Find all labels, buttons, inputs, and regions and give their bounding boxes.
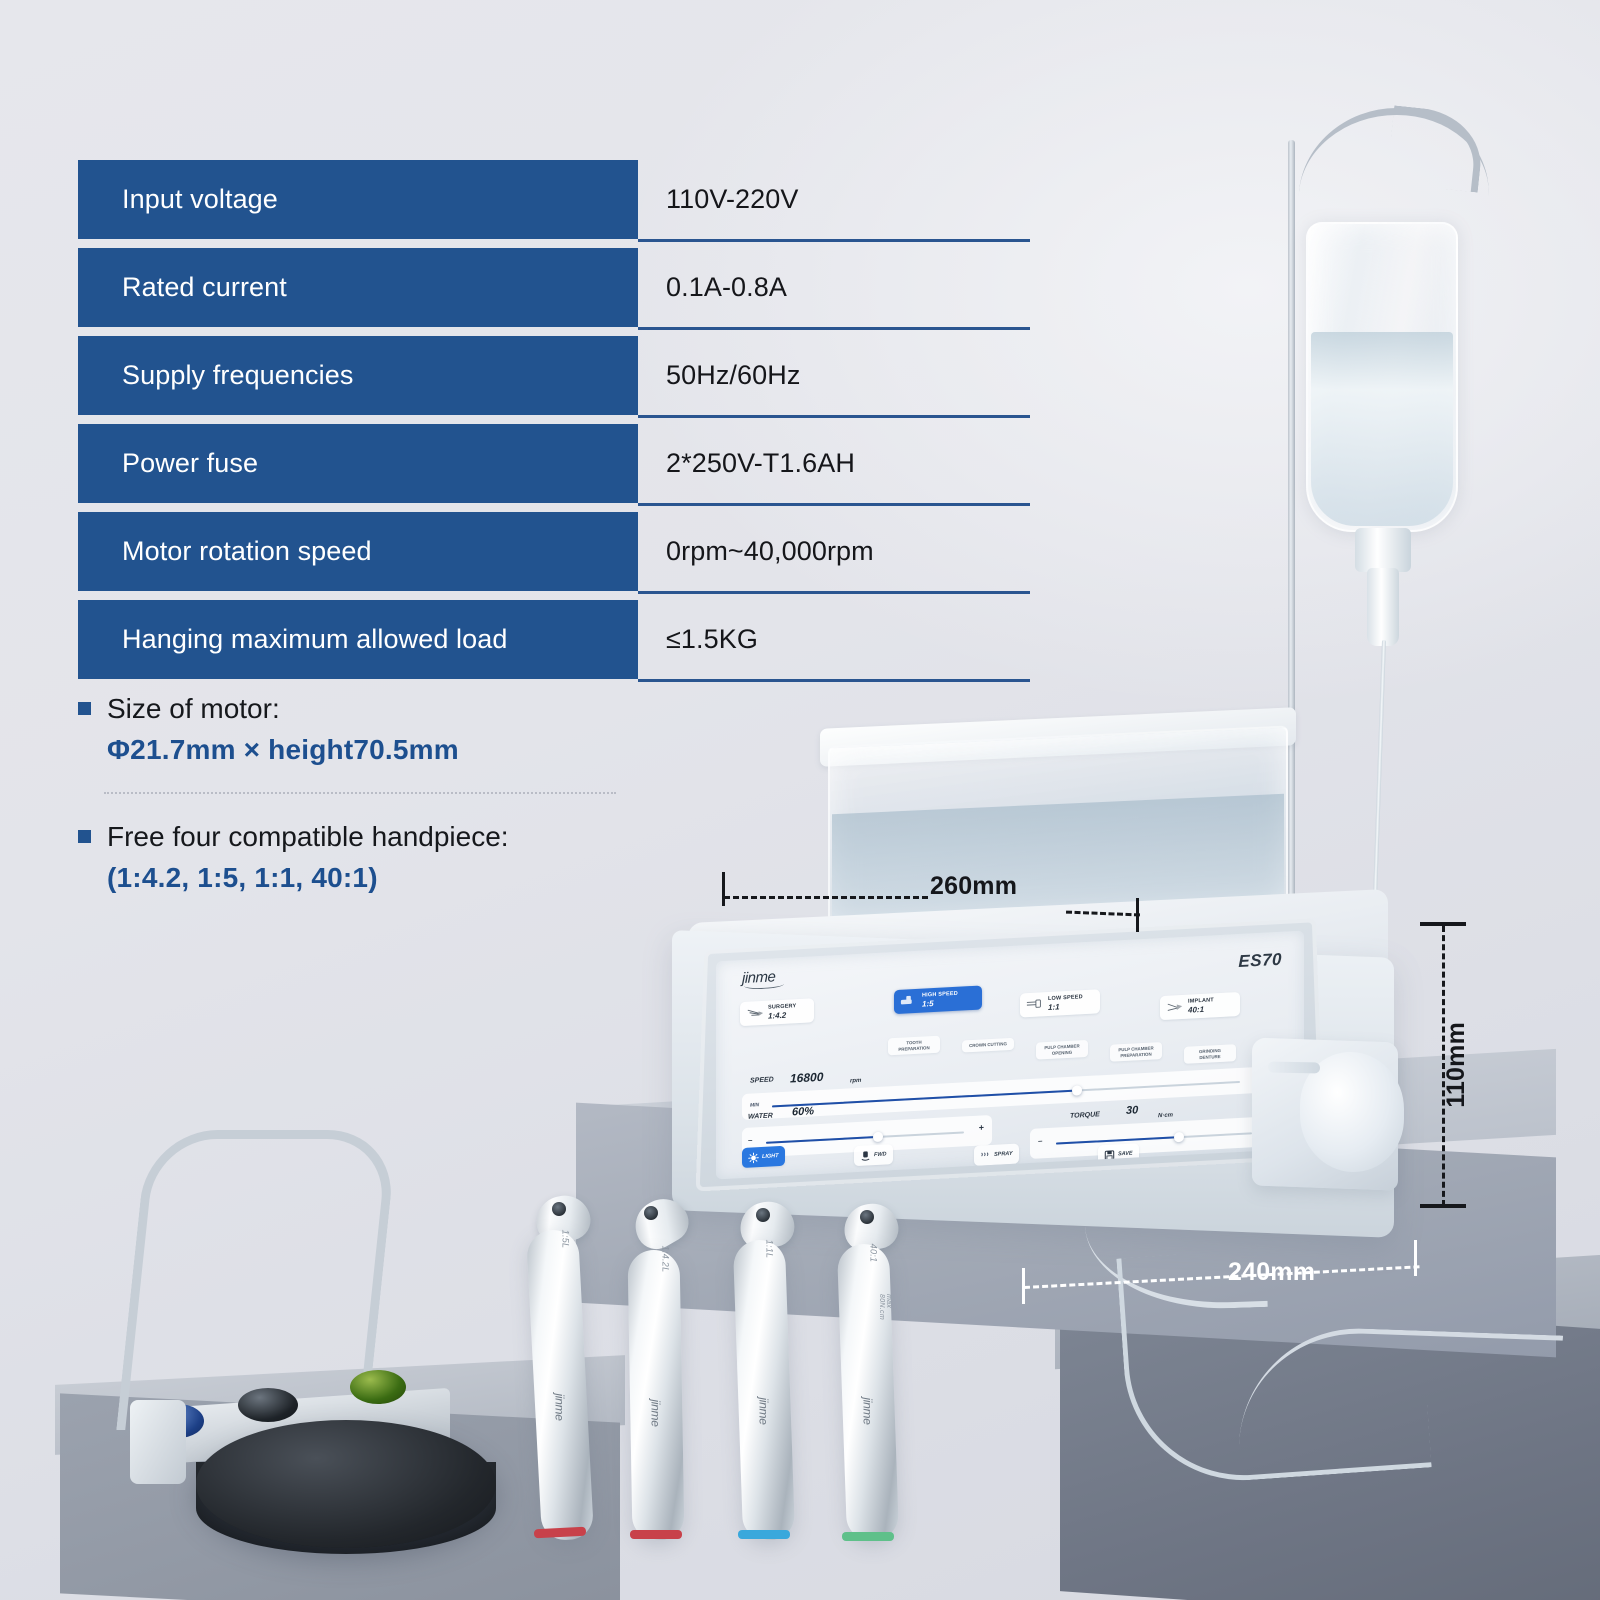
- peristaltic-pump-housing: [1252, 1037, 1398, 1190]
- spec-label: Hanging maximum allowed load: [78, 600, 638, 679]
- handpiece-bur-chuck: [756, 1208, 770, 1222]
- mode-chip-high-speed[interactable]: HIGH SPEED 1:5: [894, 985, 982, 1013]
- spray-icon: [980, 1149, 991, 1161]
- bullet-divider: [104, 792, 616, 794]
- iv-tube: [1362, 640, 1386, 1200]
- save-button-label: SAVE: [1118, 1151, 1133, 1158]
- light-bulb-icon: [748, 1152, 759, 1164]
- handpiece-brand-logo: jinme: [649, 1399, 663, 1426]
- foot-pedal-handle: [116, 1130, 398, 1430]
- foot-pedal-green-button[interactable]: [350, 1370, 406, 1404]
- device-model-badge: ES70: [1238, 950, 1282, 972]
- handpiece-body: [526, 1229, 594, 1541]
- dim-240-tick-right: [1414, 1240, 1417, 1276]
- spray-button-label: SPRAY: [994, 1151, 1013, 1158]
- handpiece-color-ring: [630, 1530, 682, 1539]
- torque-minus-button[interactable]: –: [1038, 1136, 1042, 1145]
- speed-unit: rpm: [850, 1078, 861, 1085]
- forward-rotation-icon: [860, 1150, 871, 1162]
- light-button-label: LIGHT: [762, 1153, 779, 1160]
- action-button-row: LIGHT FWD: [742, 1118, 1280, 1170]
- torque-slider-fill: [1056, 1136, 1178, 1144]
- table-row: Motor rotation speed 0rpm~40,000rpm: [78, 512, 1030, 591]
- device-touchscreen[interactable]: jinme ES70 SURGERY 1:4.2: [716, 931, 1304, 1180]
- mode-name: IMPLANT: [1188, 997, 1214, 1005]
- water-control-row[interactable]: WATER 60% – +: [742, 1115, 992, 1158]
- pedestal-lower-top: [1055, 1255, 1600, 1369]
- high-speed-handpiece-icon: [900, 994, 918, 1009]
- water-tank-lid: [820, 707, 1296, 767]
- iv-pole-hook-arm: [1386, 105, 1486, 192]
- irrigation-tube-run-secondary: [1237, 1324, 1563, 1515]
- speed-max-label: MAX: [1261, 1079, 1272, 1086]
- handpiece-bur-chuck: [644, 1206, 658, 1220]
- table-row: Input voltage 110V-220V: [78, 160, 1030, 239]
- handpiece-torque-mark: max 80N.cm: [878, 1294, 892, 1320]
- dim-240-tick-left: [1022, 1268, 1025, 1304]
- water-slider-track[interactable]: [766, 1131, 964, 1143]
- spec-value: 0rpm~40,000rpm: [638, 536, 874, 567]
- mode-selector-row: SURGERY 1:4.2 HIGH SPEED 1:5: [738, 970, 1284, 1045]
- handpiece-color-ring: [842, 1532, 894, 1541]
- spec-value: ≤1.5KG: [638, 624, 758, 655]
- pedestal-main-top: [576, 1049, 1556, 1193]
- spray-button[interactable]: SPRAY: [974, 1144, 1019, 1166]
- speed-value: 16800: [790, 1070, 823, 1086]
- pedestal-left-top: [55, 1355, 625, 1455]
- spec-label: Power fuse: [78, 424, 638, 503]
- light-button[interactable]: LIGHT: [742, 1146, 785, 1168]
- handpiece-ratio-mark: 1:1L: [764, 1240, 774, 1259]
- list-item: Free four compatible handpiece: (1:4.2, …: [78, 818, 698, 894]
- console-front-panel: [696, 918, 1325, 1191]
- square-bullet-icon: [78, 702, 91, 715]
- handpiece-color-ring: [534, 1527, 586, 1539]
- mode-ratio: 40:1: [1188, 1004, 1214, 1014]
- table-row: Supply frequencies 50Hz/60Hz: [78, 336, 1030, 415]
- spec-row-underline: [638, 591, 1030, 594]
- table-row: Rated current 0.1A-0.8A: [78, 248, 1030, 327]
- dimension-width-label: 260mm: [930, 872, 1017, 901]
- mode-name: LOW SPEED: [1048, 994, 1083, 1002]
- foot-pedal-base[interactable]: [196, 1420, 496, 1548]
- mode-name: HIGH SPEED: [922, 991, 958, 999]
- dim-110-line: [1442, 926, 1445, 1206]
- spec-value: 2*250V-T1.6AH: [638, 448, 855, 479]
- foot-pedal-skirt: [196, 1462, 496, 1554]
- handpiece-head: [626, 1190, 696, 1257]
- table-row: Hanging maximum allowed load ≤1.5KG: [78, 600, 1030, 679]
- floppy-save-icon: [1104, 1149, 1115, 1161]
- low-speed-handpiece-icon: [1026, 997, 1044, 1012]
- spec-row-underline: [638, 679, 1030, 682]
- speed-label: SPEED: [750, 1076, 774, 1084]
- iv-pole: [1288, 140, 1295, 1160]
- spec-label: Input voltage: [78, 160, 638, 239]
- mode-name: SURGERY: [768, 1003, 796, 1011]
- bullet-title: Size of motor:: [107, 690, 280, 728]
- speed-slider-row[interactable]: SPEED 16800 rpm MIN MAX: [742, 1066, 1280, 1120]
- torque-unit: N·cm: [1158, 1112, 1173, 1119]
- spec-value: 50Hz/60Hz: [638, 360, 800, 391]
- irrigation-tube-run: [1116, 1238, 1431, 1488]
- feature-bullet-list: Size of motor: Φ21.7mm × height70.5mm Fr…: [78, 690, 698, 900]
- console-body: [672, 930, 1394, 1238]
- foot-pedal-black-button[interactable]: [238, 1388, 298, 1422]
- dimension-height-label: 110mm: [1442, 1022, 1471, 1108]
- torque-slider-knob[interactable]: [1174, 1132, 1184, 1143]
- spec-row-underline: [638, 239, 1030, 242]
- torque-slider-track[interactable]: [1056, 1132, 1252, 1144]
- handpiece-ratio-mark: 1:5L: [560, 1230, 570, 1249]
- bottle-neck: [1355, 528, 1411, 572]
- handpiece-ratio-mark: 1:4.2L: [660, 1246, 670, 1273]
- procedure-chip-crown-cutting[interactable]: CROWN CUTTING: [962, 1038, 1014, 1052]
- spec-row-underline: [638, 327, 1030, 330]
- handpiece-brand-logo: jinme: [757, 1397, 771, 1424]
- surgery-handpiece-icon: [746, 1006, 764, 1021]
- water-slider-fill: [766, 1136, 877, 1144]
- water-minus-button[interactable]: –: [748, 1135, 752, 1144]
- saline-bottle: [1306, 222, 1458, 532]
- mode-chip-implant[interactable]: IMPLANT 40:1: [1160, 992, 1240, 1020]
- forward-button-label: FWD: [874, 1151, 887, 1158]
- water-tank: [828, 726, 1288, 931]
- procedure-chip-pulp-chamber-preparation[interactable]: PULP CHAMBER PREPARATION: [1110, 1042, 1162, 1062]
- torque-value: 30: [1126, 1104, 1138, 1117]
- drip-chamber: [1367, 568, 1399, 646]
- dim-110-tick-bottom: [1420, 1204, 1466, 1208]
- torque-control-row[interactable]: TORQUE 30 N·cm – +: [1030, 1116, 1280, 1159]
- water-plus-button[interactable]: +: [979, 1122, 984, 1132]
- handpiece-brand-logo: jinme: [553, 1393, 567, 1420]
- torque-plus-button[interactable]: +: [1267, 1123, 1272, 1133]
- spec-label: Motor rotation speed: [78, 512, 638, 591]
- dim-260-leader-left: [724, 896, 928, 899]
- bullet-title: Free four compatible handpiece:: [107, 818, 509, 856]
- pedestal-main: [576, 1103, 1556, 1358]
- procedure-chip-grinding-denture[interactable]: GRINDING DENTURE: [1184, 1044, 1236, 1064]
- mode-chip-surgery[interactable]: SURGERY 1:4.2: [740, 998, 814, 1025]
- handpiece-color-ring: [738, 1530, 790, 1539]
- speed-slider-knob[interactable]: [1072, 1085, 1082, 1096]
- handpiece-bur-chuck: [860, 1210, 874, 1224]
- spec-value: 0.1A-0.8A: [638, 272, 787, 303]
- handpiece-bur-chuck: [552, 1202, 566, 1216]
- foot-pedal-bracket: [130, 1400, 186, 1484]
- device-brand-logo: jinme: [742, 968, 775, 987]
- spec-value: 110V-220V: [638, 184, 799, 215]
- spec-row-underline: [638, 503, 1030, 506]
- product-spec-page: jinme ES70 SURGERY 1:4.2: [0, 0, 1600, 1600]
- iv-pole-hook: [1298, 108, 1492, 213]
- peristaltic-pump-rotor: [1300, 1050, 1404, 1174]
- foot-pedal-plate: [160, 1388, 450, 1464]
- handpiece-brand-logo: jinme: [861, 1397, 875, 1424]
- bullet-detail: Φ21.7mm × height70.5mm: [107, 734, 698, 766]
- motor-cord: [1084, 1197, 1268, 1313]
- dim-260-leader-right: [1066, 911, 1140, 917]
- dim-260-tick-right: [1136, 898, 1139, 932]
- handpiece-body: [627, 1250, 684, 1541]
- mode-ratio: 1:5: [922, 997, 958, 1008]
- specification-table: Input voltage 110V-220V Rated current 0.…: [78, 160, 1030, 679]
- spec-label: Rated current: [78, 248, 638, 327]
- torque-label: TORQUE: [1070, 1111, 1100, 1120]
- handpiece-body: [837, 1243, 899, 1541]
- pedestal-left: [60, 1393, 620, 1600]
- dim-110-tick-top: [1420, 922, 1466, 926]
- dim-260-tick-left: [722, 872, 725, 906]
- foot-pedal-blue-button[interactable]: [152, 1404, 204, 1438]
- pump-latch-lever: [1268, 1062, 1320, 1074]
- mode-chip-low-speed[interactable]: LOW SPEED 1:1: [1020, 989, 1100, 1017]
- forward-button[interactable]: FWD: [854, 1144, 893, 1166]
- table-row: Power fuse 2*250V-T1.6AH: [78, 424, 1030, 503]
- mode-ratio: 1:4.2: [768, 1010, 796, 1020]
- dim-240-line: [1024, 1265, 1420, 1289]
- list-item: Size of motor: Φ21.7mm × height70.5mm: [78, 690, 698, 766]
- implant-handpiece-icon: [1166, 1000, 1184, 1015]
- handpiece-head: [840, 1200, 901, 1255]
- saline-liquid: [1311, 332, 1453, 526]
- procedure-chip-tooth-preparation[interactable]: TOOTH PREPARATION: [888, 1036, 940, 1056]
- console-top-surface: [688, 889, 1388, 995]
- pedestal-lower: [1060, 1291, 1600, 1600]
- dimension-depth-label: 240mm: [1228, 1258, 1315, 1287]
- water-slider-knob[interactable]: [873, 1132, 883, 1143]
- procedure-chip-pulp-chamber-opening[interactable]: PULP CHAMBER OPENING: [1036, 1040, 1088, 1060]
- mode-ratio: 1:1: [1048, 1001, 1083, 1012]
- speed-slider-fill: [772, 1089, 1081, 1107]
- speed-slider-track[interactable]: [772, 1081, 1240, 1108]
- water-label: WATER: [748, 1112, 773, 1120]
- handpiece-head: [531, 1190, 595, 1248]
- save-button[interactable]: SAVE: [1098, 1143, 1139, 1165]
- handpiece-head: [736, 1198, 797, 1253]
- tank-water-level: [832, 794, 1284, 926]
- speed-min-label: MIN: [750, 1102, 759, 1108]
- spec-label: Supply frequencies: [78, 336, 638, 415]
- water-value: 60%: [792, 1105, 814, 1118]
- square-bullet-icon: [78, 830, 91, 843]
- handpiece-body: [733, 1239, 795, 1541]
- handpiece-ratio-mark: 40:1: [868, 1244, 878, 1263]
- bullet-detail: (1:4.2, 1:5, 1:1, 40:1): [107, 862, 698, 894]
- spec-row-underline: [638, 415, 1030, 418]
